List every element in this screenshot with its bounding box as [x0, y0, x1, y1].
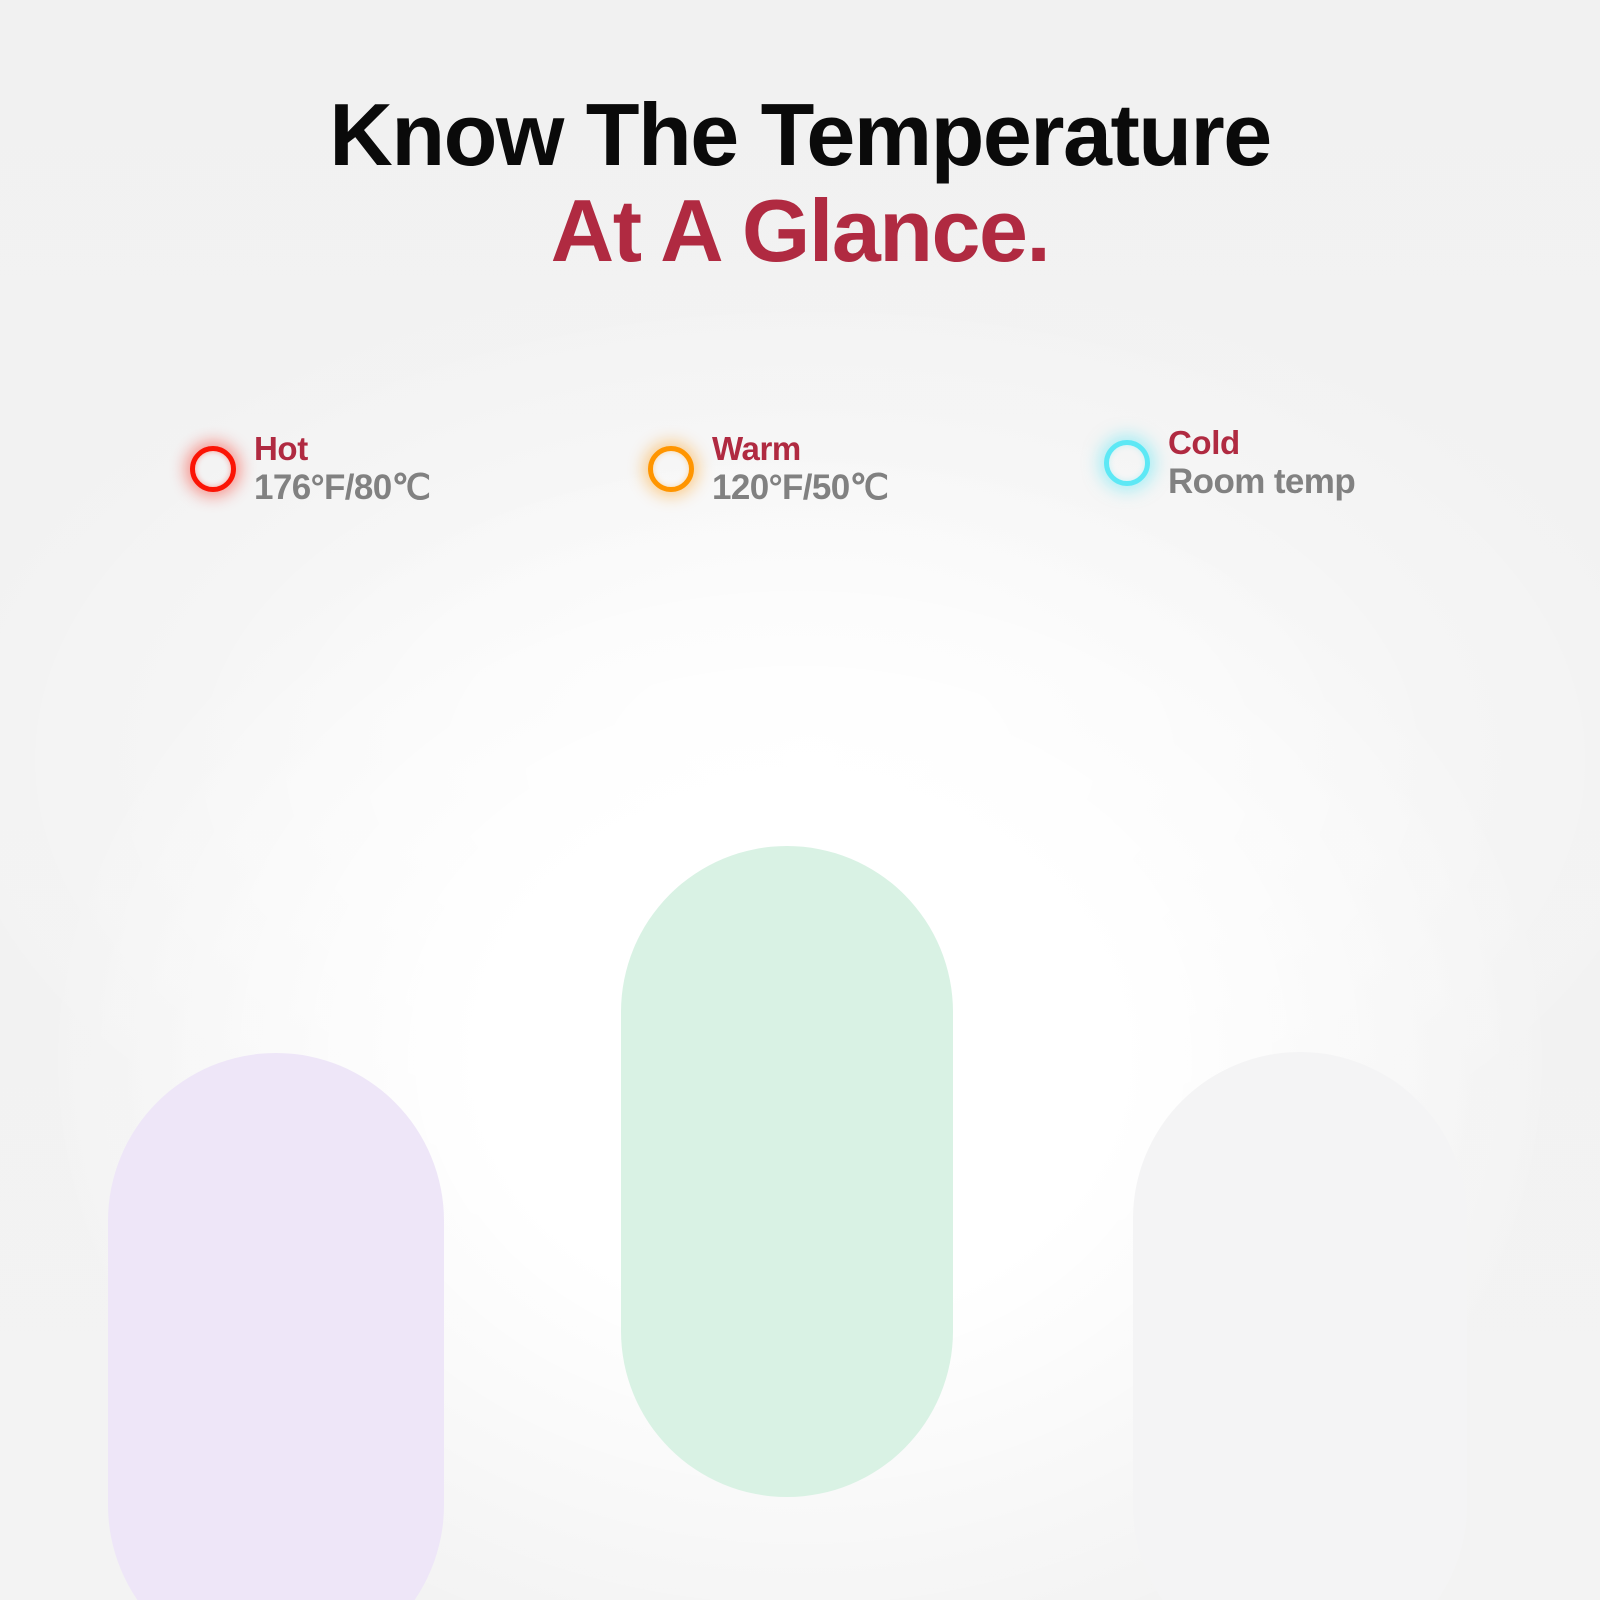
legend-text-hot: Hot 176°F/80℃: [254, 432, 430, 505]
legend-text-warm: Warm 120°F/50℃: [712, 432, 888, 505]
legend-value-cold: Room temp: [1168, 464, 1355, 499]
legend-value-warm: 120°F/50℃: [712, 470, 888, 505]
legend-item-hot[interactable]: Hot 176°F/80℃: [190, 432, 430, 505]
capsule-purple: [108, 1053, 444, 1600]
ring-indicator-icon-cold: [1104, 440, 1150, 486]
legend-label-warm: Warm: [712, 432, 888, 465]
temperature-legend: Hot 176°F/80℃ Warm 120°F/50℃ Cold Room t…: [0, 418, 1600, 528]
poster-canvas: Know The Temperature At A Glance. Hot 17…: [0, 0, 1600, 1600]
page-title-line-1: Know The Temperature: [0, 90, 1600, 180]
capsule-green: [621, 846, 953, 1497]
legend-text-cold: Cold Room temp: [1168, 426, 1355, 499]
heading-block: Know The Temperature At A Glance.: [0, 90, 1600, 276]
legend-item-warm[interactable]: Warm 120°F/50℃: [648, 432, 888, 505]
ring-indicator-icon-hot: [190, 446, 236, 492]
ring-indicator-icon-warm: [648, 446, 694, 492]
legend-item-cold[interactable]: Cold Room temp: [1104, 426, 1355, 499]
legend-label-hot: Hot: [254, 432, 430, 465]
legend-value-hot: 176°F/80℃: [254, 470, 430, 505]
legend-label-cold: Cold: [1168, 426, 1355, 459]
page-title-line-2: At A Glance.: [0, 186, 1600, 276]
capsule-gray: [1133, 1052, 1467, 1600]
